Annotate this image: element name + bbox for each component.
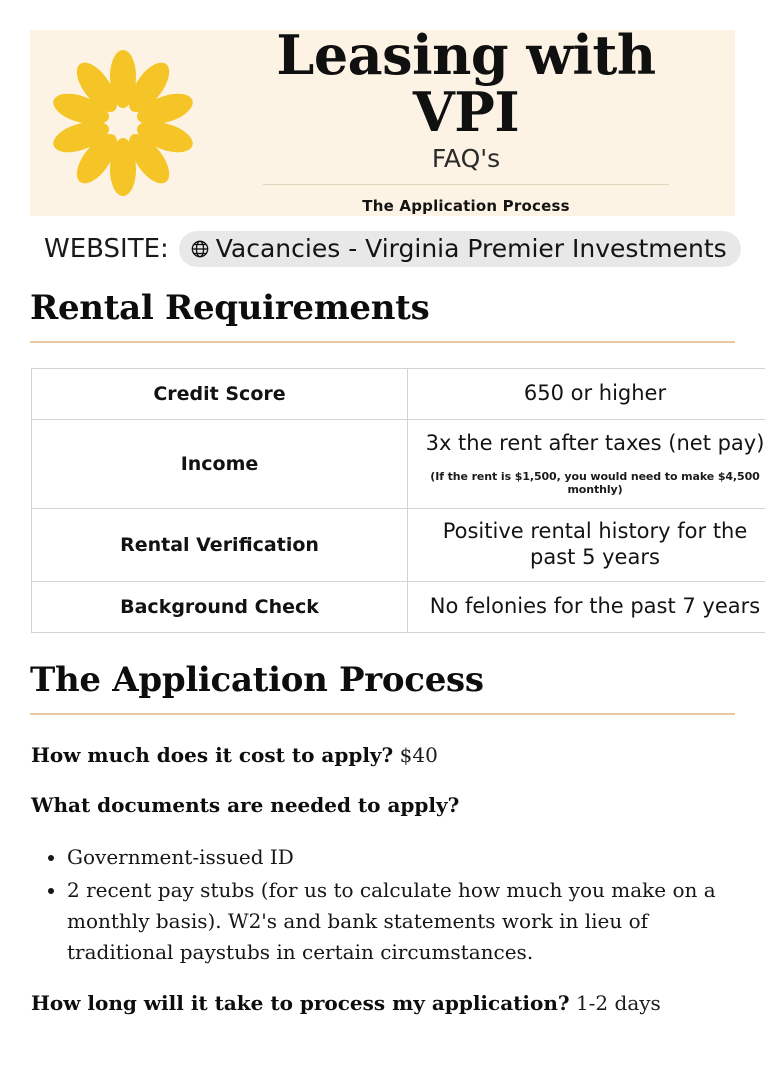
table-cell-value: 3x the rent after taxes (net pay) (If th… [408, 420, 765, 509]
table-cell-value: Positive rental history for the past 5 y… [408, 509, 765, 582]
website-row: WEBSITE: Vacancies - Virginia Premier In… [44, 229, 744, 269]
table-row: Rental Verification Positive rental hist… [32, 509, 765, 582]
header-tagline: The Application Process [215, 197, 717, 215]
table-cell-label: Credit Score [32, 369, 408, 420]
faq-answer: 1-2 days [576, 991, 661, 1015]
rental-requirements-table: Credit Score 650 or higher Income 3x the… [31, 368, 765, 633]
faq-item-documents: What documents are needed to apply? [31, 792, 737, 818]
header-divider [263, 184, 669, 185]
header-banner: Leasing with VPI FAQ's The Application P… [30, 30, 735, 216]
faq-question: How much does it cost to apply? [31, 743, 393, 767]
faq-question: What documents are needed to apply? [31, 793, 459, 817]
table-cell-label: Rental Verification [32, 509, 408, 582]
rental-requirements-section-header: Rental Requirements [30, 288, 735, 343]
rental-requirements-divider [30, 341, 735, 343]
website-label: WEBSITE: [44, 234, 169, 264]
table-cell-value-text: 650 or higher [524, 381, 666, 405]
table-row: Income 3x the rent after taxes (net pay)… [32, 420, 765, 509]
table-cell-value: 650 or higher [408, 369, 765, 420]
list-item: 2 recent pay stubs (for us to calculate … [67, 875, 737, 968]
list-item: Government-issued ID [67, 842, 737, 873]
application-process-section-header: The Application Process [30, 660, 735, 715]
header-text-block: Leasing with VPI FAQ's The Application P… [215, 27, 735, 215]
logo-container [30, 30, 215, 216]
faq-item-processing-time: How long will it take to process my appl… [31, 990, 737, 1016]
table-row: Credit Score 650 or higher [32, 369, 765, 420]
application-process-divider [30, 713, 735, 715]
rental-requirements-heading: Rental Requirements [30, 288, 735, 328]
table-cell-label: Income [32, 420, 408, 509]
website-link-chip[interactable]: Vacancies - Virginia Premier Investments [179, 231, 741, 267]
table-cell-note: (If the rent is $1,500, you would need t… [420, 470, 765, 497]
page-subtitle: FAQ's [215, 144, 717, 174]
documents-list: Government-issued ID 2 recent pay stubs … [31, 842, 737, 968]
table-cell-value-text: 3x the rent after taxes (net pay) [426, 431, 765, 455]
faq-question: How long will it take to process my appl… [31, 991, 570, 1015]
table-cell-label: Background Check [32, 582, 408, 633]
sunflower-logo-icon [48, 48, 198, 198]
faq-answer: $40 [400, 743, 438, 767]
table-cell-value-text: No felonies for the past 7 years [430, 594, 760, 618]
faq-content: How much does it cost to apply? $40 What… [31, 742, 737, 1040]
faq-item-cost: How much does it cost to apply? $40 [31, 742, 737, 768]
page-title: Leasing with VPI [215, 27, 717, 140]
document-page: Leasing with VPI FAQ's The Application P… [0, 0, 765, 1080]
website-link-text[interactable]: Vacancies - Virginia Premier Investments [216, 234, 727, 263]
application-process-heading: The Application Process [30, 660, 735, 700]
globe-icon [190, 239, 210, 259]
table-cell-value: No felonies for the past 7 years [408, 582, 765, 633]
table-row: Background Check No felonies for the pas… [32, 582, 765, 633]
table-cell-value-text: Positive rental history for the past 5 y… [443, 519, 748, 569]
